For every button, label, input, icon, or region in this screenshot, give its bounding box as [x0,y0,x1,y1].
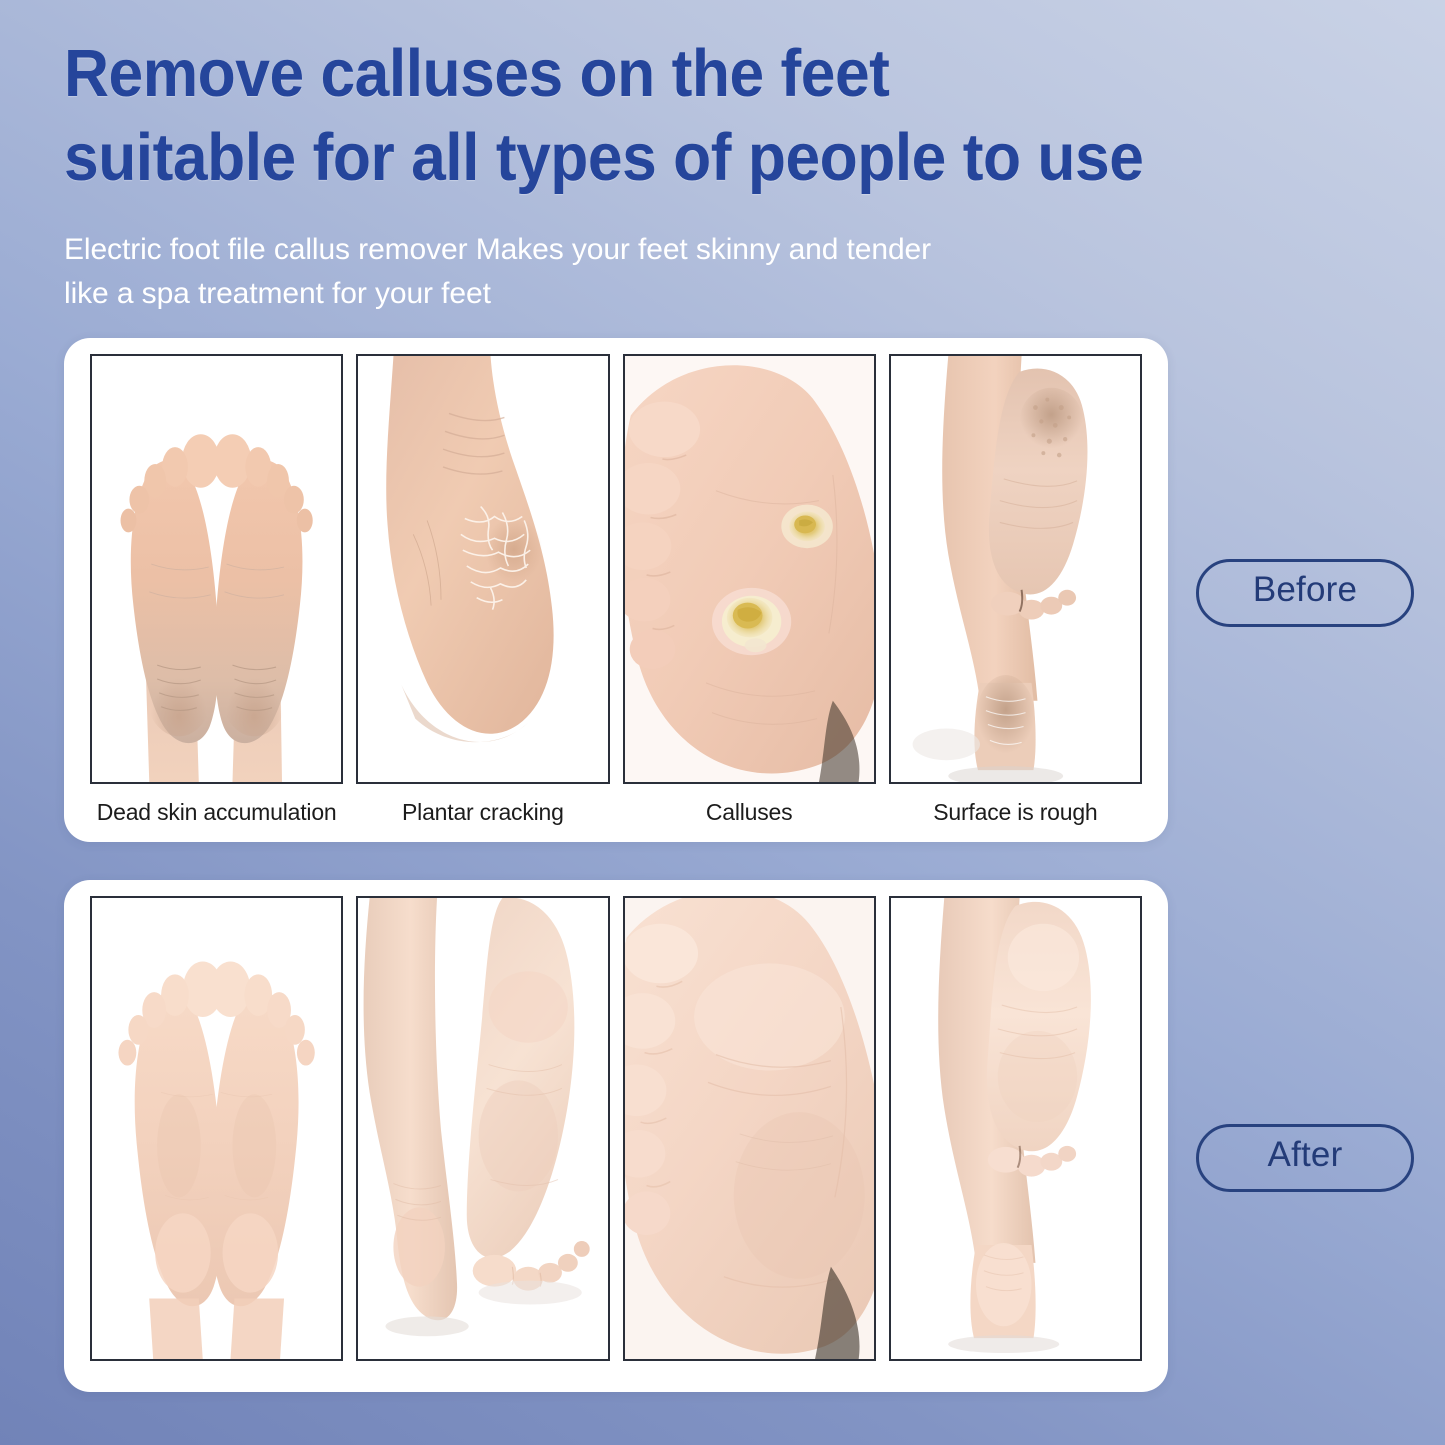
callused-sole-photo [623,354,876,784]
before-comparison-card: Dead skin accumulation Plantar cracking … [64,338,1168,842]
page-subtitle: Electric foot file callus remover Makes … [64,228,1164,316]
before-photo-strip [90,354,1142,784]
page-title: Remove calluses on the feet suitable for… [64,32,1264,201]
caption-dead-skin-accumulation: Dead skin accumulation [90,790,343,834]
status-badge-after: After [1196,1124,1414,1192]
subtitle-line-2: like a spa treatment for your feet [64,272,1164,316]
smooth-soles-photo [90,896,343,1361]
status-badge-before: Before [1196,559,1414,627]
headline-line-1: Remove calluses on the feet [64,32,1264,116]
rough-foot-surface-photo [889,354,1142,784]
smooth-foot-surface-photo [889,896,1142,1361]
smooth-feet-standing-photo [356,896,609,1361]
subtitle-line-1: Electric foot file callus remover Makes … [64,228,1164,272]
caption-calluses: Calluses [623,790,876,834]
before-caption-row: Dead skin accumulation Plantar cracking … [90,790,1142,834]
headline-line-2: suitable for all types of people to use [64,116,1264,200]
soles-with-dead-skin-photo [90,354,343,784]
after-comparison-card [64,880,1168,1392]
after-photo-strip [90,896,1142,1361]
caption-surface-is-rough: Surface is rough [889,790,1142,834]
smooth-sole-closeup-photo [623,896,876,1361]
cracked-heel-photo [356,354,609,784]
caption-plantar-cracking: Plantar cracking [356,790,609,834]
product-feature-poster: Remove calluses on the feet suitable for… [0,0,1445,1445]
